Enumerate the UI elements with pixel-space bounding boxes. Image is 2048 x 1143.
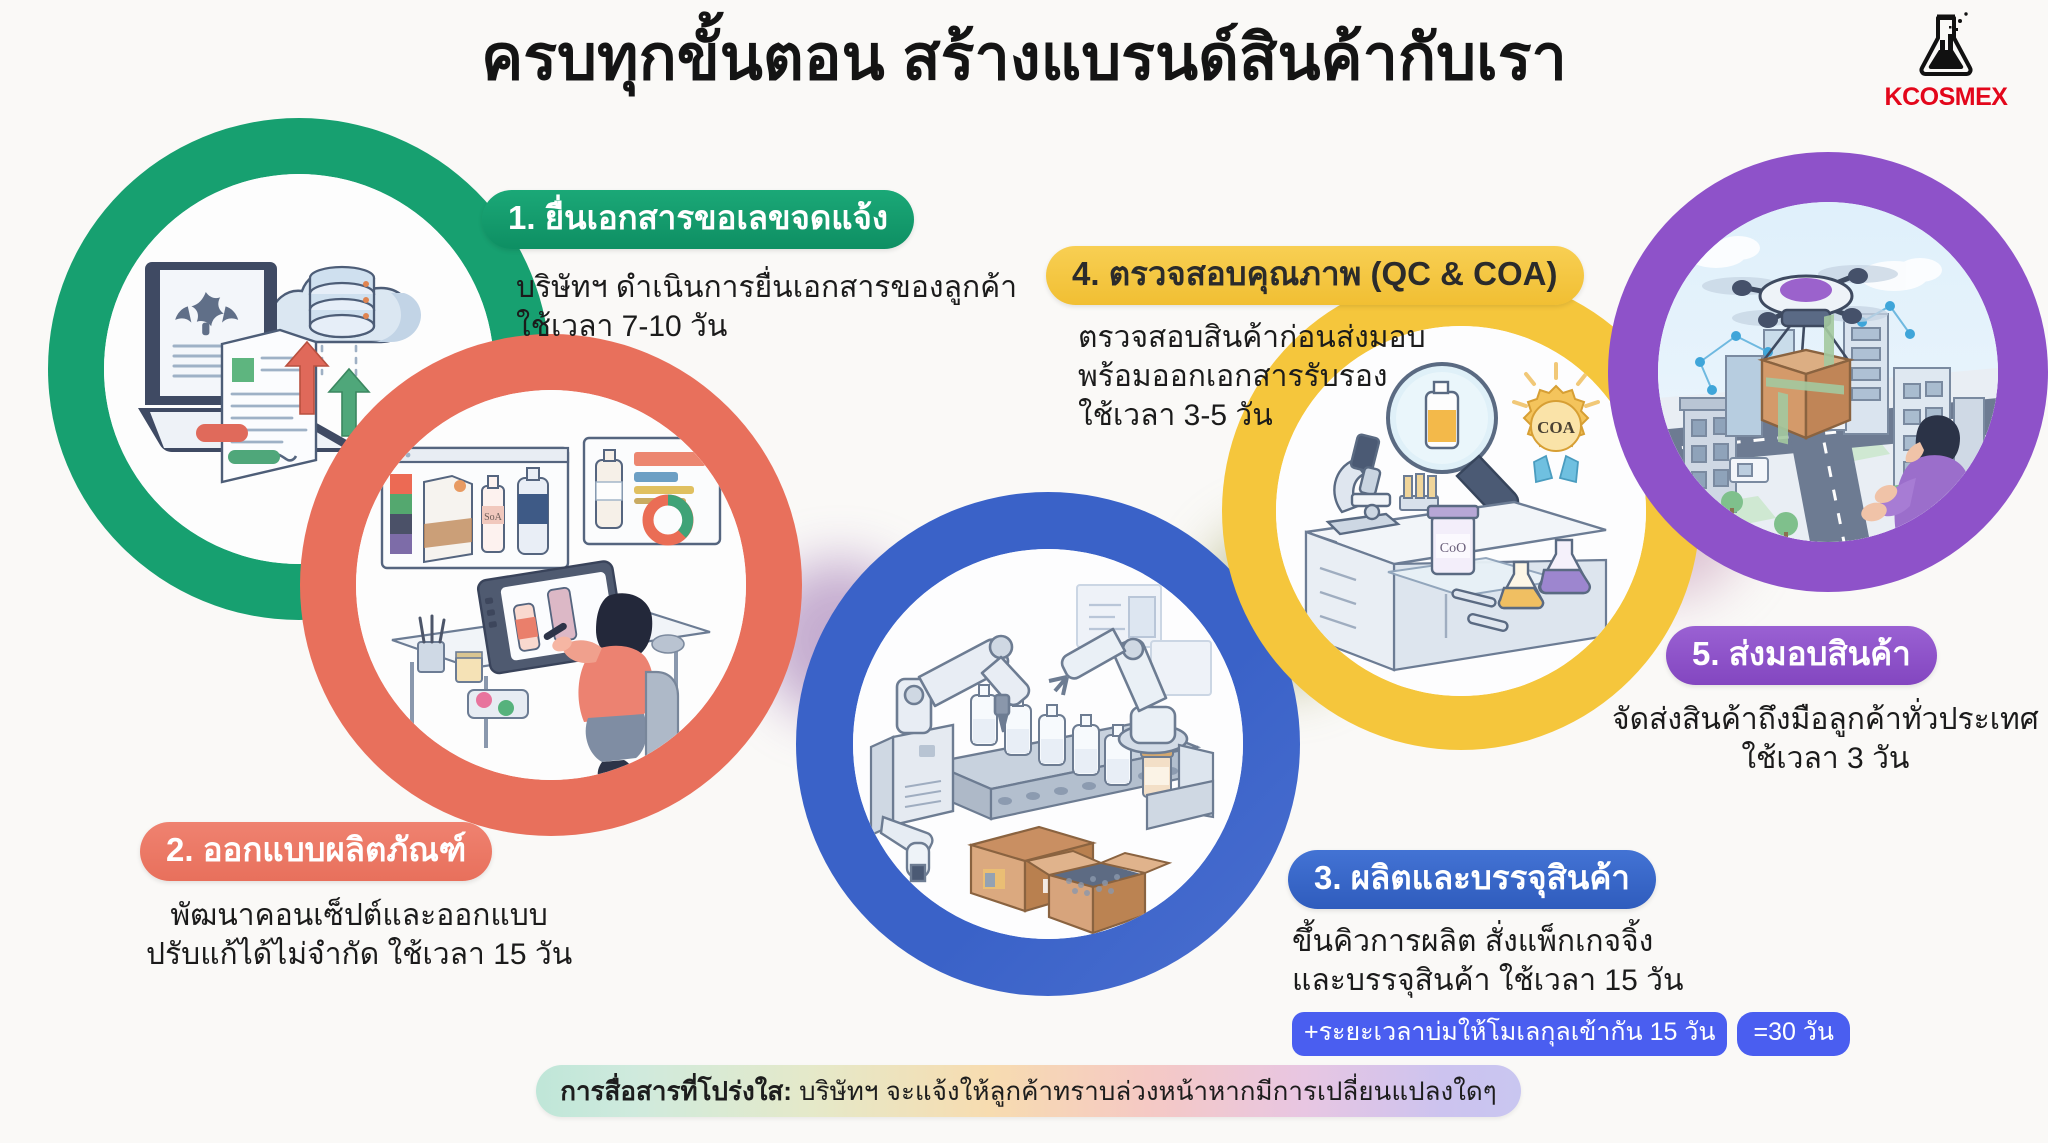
logo-wordmark: KCOSMEX [1866,83,2026,112]
step-3-description: ขึ้นคิวการผลิต สั่งแพ็กเกจจิ้ง และบรรจุส… [1292,922,1683,1000]
infographic-canvas: ครบทุกขั้นตอน สร้างแบรนด์สินค้ากับเรา KC… [0,0,2048,1143]
step-2-illustration: SoA [356,390,746,780]
footer-banner-highlight: การสื่อสารที่โปร่งใส: [560,1076,792,1106]
svg-text:SoA: SoA [484,512,503,523]
step-1-description: บริษัทฯ ดำเนินการยื่นเอกสารของลูกค้า ใช้… [516,268,1017,346]
step-3-badge-total-days: =30 วัน [1737,1012,1849,1056]
step-5-ring [1608,152,2048,592]
step-3-badge-curing-time: +ระยะเวลาบ่มให้โมเลกุลเข้ากัน 15 วัน [1292,1012,1727,1056]
step-5-pill[interactable]: 5. ส่งมอบสินค้า [1666,626,1937,685]
step-4-description: ตรวจสอบสินค้าก่อนส่งมอบ พร้อมออกเอกสารรั… [1078,318,1426,435]
coa-badge-text: COA [1537,418,1576,437]
step-2-pill[interactable]: 2. ออกแบบผลิตภัณฑ์ [140,822,492,881]
flask-icon [1866,8,2026,82]
kcosmex-logo: KCOSMEX [1866,8,2026,112]
step-3-badges: +ระยะเวลาบ่มให้โมเลกุลเข้ากัน 15 วัน =30… [1292,1012,1850,1056]
step-5-illustration [1658,202,1998,542]
footer-banner-body: บริษัทฯ จะแจ้งให้ลูกค้าทราบล่วงหน้าหากมี… [792,1076,1497,1106]
page-title: ครบทุกขั้นตอน สร้างแบรนด์สินค้ากับเรา [0,22,2048,94]
step-2-ring: SoA [300,334,802,836]
step-3-pill[interactable]: 3. ผลิตและบรรจุสินค้า [1288,850,1656,909]
step-5-description: จัดส่งสินค้าถึงมือลูกค้าทั่วประเทศ ใช้เว… [1612,700,2039,778]
footer-banner: การสื่อสารที่โปร่งใส: บริษัทฯ จะแจ้งให้ล… [536,1065,1521,1117]
footer-banner-text: การสื่อสารที่โปร่งใส: บริษัทฯ จะแจ้งให้ล… [560,1071,1497,1112]
step-4-pill[interactable]: 4. ตรวจสอบคุณภาพ (QC & COA) [1046,246,1584,305]
step-2-description: พัฒนาคอนเซ็ปต์และออกแบบ ปรับแก้ได้ไม่จำก… [146,896,572,974]
step-1-pill[interactable]: 1. ยื่นเอกสารขอเลขจดแจ้ง [482,190,914,249]
step-3-ring [796,492,1300,996]
sample-jar-label: CoO [1440,541,1466,556]
step-3-illustration [853,549,1243,939]
